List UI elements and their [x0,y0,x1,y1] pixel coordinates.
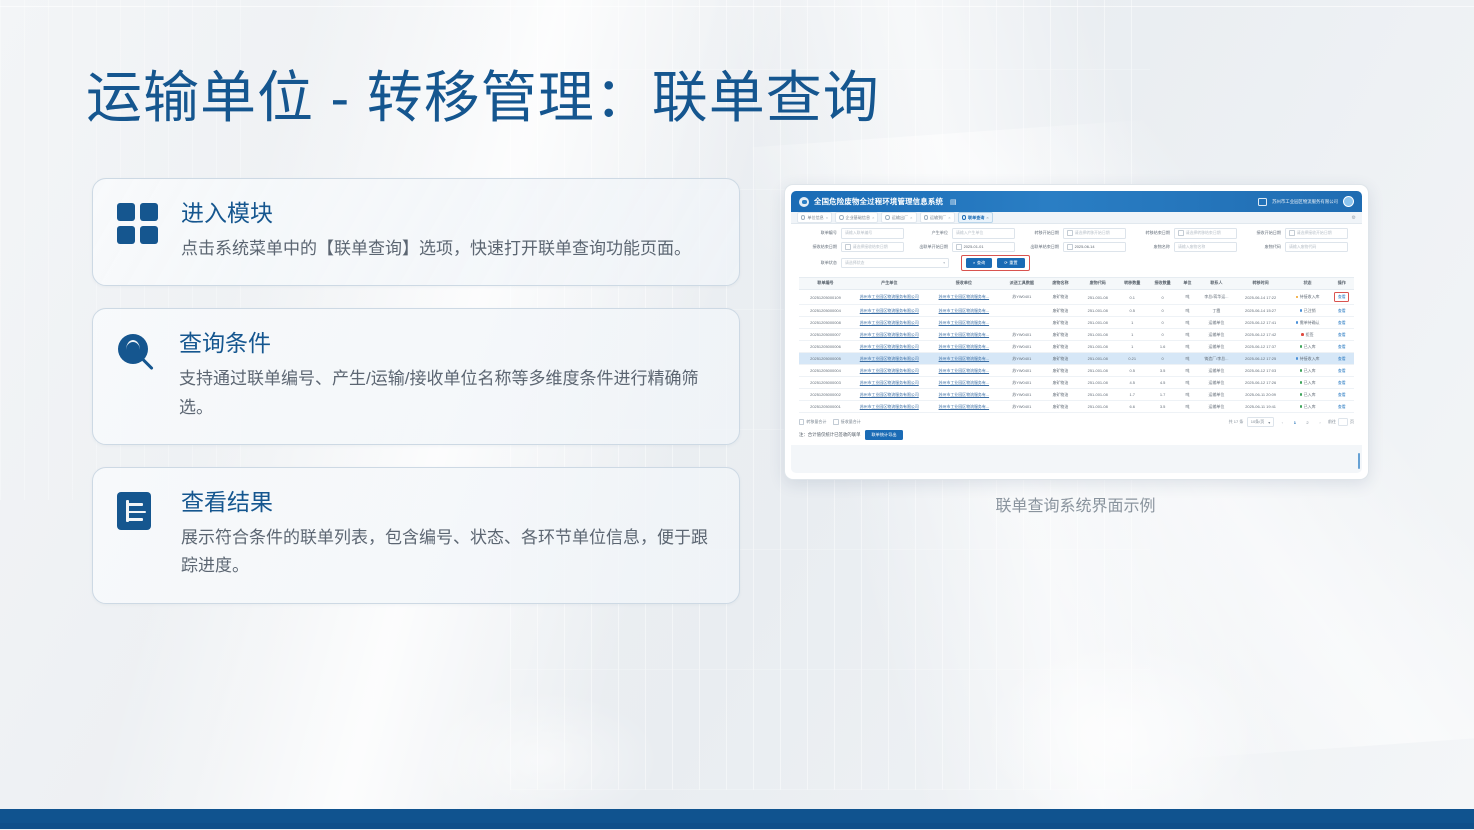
cell-transfer-qty: 6.6 [1117,401,1147,413]
page-2-button[interactable]: 2 [1303,419,1312,425]
cell-contact: 运输单位 [1197,389,1236,401]
cell-transfer-qty: 1 [1117,341,1147,353]
cell-contact: 李总/蒋华运... [1197,289,1236,304]
cell-transfer-time: 2025-06-12 17:41 [1236,317,1286,329]
cell-status: 已入库 [1285,365,1329,377]
cell-contact: 铸造厂/李总... [1197,353,1236,365]
results-table: 联单编号 产生单位 接收单位 派送工具数据 废物名称 废物代码 转移数量 接收数… [799,277,1354,413]
close-icon[interactable]: × [910,215,912,220]
cell-waste-name: 废矿物油 [1043,317,1079,329]
status-label: 待接收入库 [1300,294,1320,300]
cell-receive-qty: 1.6 [1147,341,1177,353]
status-dot-icon [1300,369,1303,372]
cell-status: 已入库 [1285,377,1329,389]
field-value: 2025-01-01 [964,244,984,249]
tab-enterprise-basic-info[interactable]: 企业基础信息 × [835,212,878,223]
field-producer-unit[interactable]: 产生单位 请输入产生单位 [910,228,1021,239]
table-row[interactable]: 20251205000002苏州市工业园区物流服务有限公司苏州市工业园区物流服务… [799,389,1354,401]
step-card-title: 进入模块 [181,199,717,228]
table-body: 20251205000109苏州市工业园区物流服务有限公司苏州市工业园区物流服务… [799,289,1354,412]
cell-waste-name: 废矿物油 [1043,401,1079,413]
cell-waste-code: 251-001-08 [1078,305,1117,317]
waste-name-input[interactable]: 请输入废物名称 [1174,242,1237,253]
receive-end-date-input[interactable]: 请选择接收结束日期 [841,242,904,253]
cell-transfer-time: 2025-06-14 17:22 [1236,289,1286,304]
cell-producer[interactable]: 苏州市工业园区物流服务有限公司 [852,329,927,341]
field-value: 请选择转移开始日期 [1075,230,1110,236]
cell-status: 已入库 [1285,401,1329,413]
scrollbar[interactable] [1358,453,1360,469]
status-dot-icon [1300,345,1303,348]
tab-transport-in[interactable]: 运输到厂 × [920,212,955,223]
prev-page-button[interactable]: ‹ [1278,419,1287,425]
cell-transfer-qty: 0.5 [1117,365,1147,377]
checkbox-receive-total[interactable]: 接收量合计 [833,419,860,425]
field-transfer-end-date[interactable]: 转移结束日期 请选择转移结束日期 [1132,228,1243,239]
field-value: 2025-06-14 [1075,244,1095,249]
search-form: 联单编号 请输入联单编号 产生单位 请输入产生单位 转移开始日期 请选择转移开始… [791,224,1362,277]
search-button[interactable]: ⌕ 查询 [966,258,992,268]
screenshot-frame: 全国危险废物全过程环境管理信息系统 ▤ 苏州市工业园区物流服务有限公司 单位信息… [784,184,1369,480]
cell-transfer-time: 2025-06-12 17:03 [1236,365,1286,377]
cell-receive-qty: 0 [1147,353,1177,365]
view-link[interactable]: 查看 [1338,380,1346,385]
cell-unit: 吨 [1178,377,1197,389]
total-count-label: 共 17 条 [1229,419,1244,425]
transfer-start-date-input[interactable]: 请选择转移开始日期 [1063,228,1126,239]
cell-waste-code: 251-001-08 [1078,329,1117,341]
field-label: 出联单结束日期 [1021,244,1063,250]
app-header: 全国危险废物全过程环境管理信息系统 ▤ 苏州市工业园区物流服务有限公司 [791,191,1362,212]
cell-transfer-qty: 0.5 [1117,305,1147,317]
field-label: 废物名称 [1132,244,1174,250]
footer-bar [0,809,1474,829]
checkbox-icon [799,419,804,424]
status-dot-icon [1296,321,1299,324]
checkbox-label: 转移量合计 [806,419,826,425]
cell-status: 已入库 [1285,341,1329,353]
next-page-button[interactable]: › [1315,419,1324,425]
dot-icon [801,215,805,219]
step-card-text: 支持通过联单编号、产生/运输/接收单位名称等多维度条件进行精确筛选。 [179,365,717,422]
table-row[interactable]: 20251205000005苏州市工业园区物流服务有限公司苏州市工业园区物流服务… [799,353,1354,365]
tab-label: 单位信息 [807,215,823,221]
cell-transfer-qty: 1.7 [1117,389,1147,401]
cell-status: 已入库 [1285,389,1329,401]
form-row-1: 联单编号 请输入联单编号 产生单位 请输入产生单位 转移开始日期 请选择转移开始… [799,228,1354,239]
cell-action[interactable]: 查看 [1330,377,1354,389]
table-header-row: 联单编号 产生单位 接收单位 派送工具数据 废物名称 废物代码 转移数量 接收数… [799,277,1354,289]
col-vehicle[interactable]: 派送工具数据 [1001,277,1042,289]
cell-action[interactable]: 查看 [1330,305,1354,317]
tab-manifest-query[interactable]: 联单查询 × [958,212,993,223]
cell-status: 待接收入库 [1285,353,1329,365]
status-label: 已注销 [1304,308,1316,314]
manifest-status-select[interactable]: 请选择状态 ▾ [841,258,949,269]
cell-action[interactable]: 查看 [1330,389,1354,401]
cell-manifest-no: 20251205000001 [799,401,852,413]
tab-label: 运输出厂 [892,215,908,221]
cell-waste-name: 废矿物油 [1043,289,1079,304]
step-card-enter-module[interactable]: 进入模块 点击系统菜单中的【联单查询】选项，快速打开联单查询功能页面。 [92,178,740,286]
cell-waste-name: 废矿物油 [1043,365,1079,377]
view-link[interactable]: 查看 [1338,356,1346,361]
cell-vehicle: 苏YW0401 [1001,401,1042,413]
checkbox-label: 接收量合计 [841,419,861,425]
cell-manifest-no: 20251205000004 [799,365,852,377]
cell-transfer-qty: 0.1 [1117,289,1147,304]
reset-button[interactable]: ⟳ 重置 [997,258,1024,268]
chevron-down-icon: ▾ [1268,420,1270,425]
background-top-rule [0,6,1474,7]
view-link[interactable]: 查看 [1338,308,1346,313]
field-label: 接收结束日期 [799,244,841,250]
table-note-row: 注：合计值仅统计已签收的联单 联单统计导出 [791,427,1362,445]
cell-waste-code: 251-001-08 [1078,401,1117,413]
app-title: 全国危险废物全过程环境管理信息系统 [814,196,943,207]
cell-transfer-time: 2025-06-11 19:41 [1236,401,1286,413]
col-receive-qty[interactable]: 接收数量 [1147,277,1177,289]
page-jump[interactable]: 前往 页 [1328,418,1354,426]
cell-transfer-time: 2025-06-12 17:42 [1236,329,1286,341]
step-card-body: 进入模块 点击系统菜单中的【联单查询】选项，快速打开联单查询功能页面。 [181,199,717,263]
cell-contact: 运输单位 [1197,341,1236,353]
message-icon[interactable] [1258,198,1267,206]
col-transfer-qty[interactable]: 转移数量 [1117,277,1147,289]
checkbox-icon [833,419,838,424]
cell-receive-qty: 4.5 [1147,377,1177,389]
cell-receiver[interactable]: 苏州市工业园区物流服务有... [927,305,1002,317]
cell-receiver[interactable]: 苏州市工业园区物流服务有... [927,341,1002,353]
cell-contact: 运输单位 [1197,317,1236,329]
cell-unit: 吨 [1178,317,1197,329]
cell-contact: 运输单位 [1197,377,1236,389]
cell-receive-qty: 0 [1147,329,1177,341]
field-label: 转移开始日期 [1021,230,1063,236]
receive-start-date-input[interactable]: 请选择接收开始日期 [1285,228,1348,239]
col-action[interactable]: 操作 [1330,277,1354,289]
col-status[interactable]: 状态 [1285,277,1329,289]
tab-label: 企业基础信息 [846,215,871,221]
table-row[interactable]: 20251205000001苏州市工业园区物流服务有限公司苏州市工业园区物流服务… [799,401,1354,413]
search-icon: ⌕ [973,260,975,265]
cell-receiver[interactable]: 苏州市工业园区物流服务有... [927,389,1002,401]
cell-manifest-no: 20251205000006 [799,341,852,353]
form-button-group: ⌕ 查询 ⟳ 重置 [961,255,1030,270]
status-dot-icon [1300,405,1303,408]
step-card-title: 查询条件 [179,329,717,358]
cell-action[interactable]: 查看 [1330,341,1354,353]
cell-receive-qty: 0 [1147,289,1177,304]
status-label: 已入库 [1304,344,1316,350]
table-row[interactable]: 20251205000004苏州市工业园区物流服务有限公司苏州市工业园区物流服务… [799,365,1354,377]
step-card-view-results[interactable]: 查看结果 展示符合条件的联单列表，包含编号、状态、各环节单位信息，便于跟踪进度。 [92,467,740,604]
tab-label: 联单查询 [968,215,984,221]
cell-producer[interactable]: 苏州市工业园区物流服务有限公司 [852,341,927,353]
close-icon[interactable]: × [826,215,828,220]
cell-transfer-qty: 1 [1117,317,1147,329]
close-icon[interactable]: × [872,215,874,220]
gear-icon[interactable]: ⚙ [1352,215,1356,221]
calendar-icon [956,244,962,250]
col-waste-name[interactable]: 废物名称 [1043,277,1079,289]
checkbox-transfer-total[interactable]: 转移量合计 [799,419,826,425]
manifest-no-input[interactable]: 请输入联单编号 [841,228,904,239]
col-manifest-no[interactable]: 联单编号 [799,277,852,289]
page-title: 运输单位 - 转移管理：联单查询 [86,64,880,131]
cell-receiver[interactable]: 苏州市工业园区物流服务有... [927,289,1002,304]
field-label: 接收开始日期 [1243,230,1285,236]
cell-waste-name: 废矿物油 [1043,377,1079,389]
list-icon [117,492,159,534]
waste-code-input[interactable]: 请输入废物代码 [1285,242,1348,253]
pagination: 共 17 条 10条/页 ▾ ‹ 1 2 › 前往 页 [1229,417,1354,427]
field-value: 请选择状态 [845,260,864,266]
field-manifest-status[interactable]: 联单状态 请选择状态 ▾ [799,258,955,269]
cell-transfer-time: 2025-06-14 15:27 [1236,305,1286,317]
view-link[interactable]: 查看 [1338,332,1346,337]
status-label: 待接收入库 [1300,356,1320,362]
view-link[interactable]: 查看 [1338,404,1346,409]
cell-unit: 吨 [1178,365,1197,377]
step-card-query-conditions[interactable]: 查询条件 支持通过联单编号、产生/运输/接收单位名称等多维度条件进行精确筛选。 [92,308,740,445]
cell-producer[interactable]: 苏州市工业园区物流服务有限公司 [852,377,927,389]
status-dot-icon [1300,381,1303,384]
cell-receiver[interactable]: 苏州市工业园区物流服务有... [927,317,1002,329]
jump-input[interactable] [1338,418,1348,426]
cell-vehicle [1001,317,1042,329]
step-card-list: 进入模块 点击系统菜单中的【联单查询】选项，快速打开联单查询功能页面。 查询条件… [92,178,740,626]
field-value: 请选择转移结束日期 [1186,230,1221,236]
field-label: 转移结束日期 [1132,230,1174,236]
cell-contact: 丁霞 [1197,305,1236,317]
cell-producer[interactable]: 苏州市工业园区物流服务有限公司 [852,365,927,377]
dot-icon [962,215,966,219]
field-manifest-no[interactable]: 联单编号 请输入联单编号 [799,228,910,239]
cell-vehicle: 苏YW0401 [1001,329,1042,341]
cell-receiver[interactable]: 苏州市工业园区物流服务有... [927,377,1002,389]
results-table-container: 联单编号 产生单位 接收单位 派送工具数据 废物名称 废物代码 转移数量 接收数… [791,277,1362,415]
cell-waste-code: 251-001-08 [1078,365,1117,377]
cell-transfer-time: 2025-06-12 17:26 [1236,377,1286,389]
avatar[interactable] [1343,196,1354,207]
field-receive-start-date[interactable]: 接收开始日期 请选择接收开始日期 [1243,228,1354,239]
table-row[interactable]: 20251205000109苏州市工业园区物流服务有限公司苏州市工业园区物流服务… [799,289,1354,304]
field-waste-code[interactable]: 废物代码 请输入废物代码 [1243,242,1354,253]
cell-producer[interactable]: 苏州市工业园区物流服务有限公司 [852,305,927,317]
issue-start-date-input[interactable]: 2025-01-01 [952,242,1015,253]
button-label: 重置 [1009,260,1017,266]
field-issue-end-date[interactable]: 出联单结束日期 2025-06-14 [1021,242,1132,253]
cell-manifest-no: 20251205000007 [799,329,852,341]
col-unit[interactable]: 单位 [1178,277,1197,289]
view-link[interactable]: 查看 [1334,292,1349,301]
status-dot-icon [1296,357,1299,360]
cell-transfer-qty: 1 [1117,329,1147,341]
step-card-body: 查看结果 展示符合条件的联单列表，包含编号、状态、各环节单位信息，便于跟踪进度。 [181,488,717,581]
field-issue-start-date[interactable]: 出联单开始日期 2025-01-01 [910,242,1021,253]
refresh-icon: ⟳ [1004,260,1007,265]
calendar-icon [1289,230,1295,236]
cell-receive-qty: 0 [1147,305,1177,317]
chevron-down-icon: ▾ [943,261,945,265]
issue-end-date-input[interactable]: 2025-06-14 [1063,242,1126,253]
form-row-3: 联单状态 请选择状态 ▾ ⌕ 查询 ⟳ 重置 [799,255,1354,270]
cell-contact: 运输单位 [1197,365,1236,377]
screenshot-caption: 联单查询系统界面示例 [784,492,1367,516]
cell-receive-qty: 0 [1147,317,1177,329]
dot-icon [839,215,843,219]
button-label: 查询 [977,260,985,266]
page-1-button[interactable]: 1 [1290,419,1299,425]
cell-waste-code: 251-001-08 [1078,317,1117,329]
page-size-select[interactable]: 10条/页 ▾ [1247,417,1275,427]
table-row[interactable]: 20251205000006苏州市工业园区物流服务有限公司苏州市工业园区物流服务… [799,341,1354,353]
menu-icon[interactable]: ▤ [950,198,957,206]
cell-transfer-time: 2025-06-12 17:25 [1236,353,1286,365]
tab-bar: 单位信息 × 企业基础信息 × 运输出厂 × 运输到厂 × 联单查询 × [791,212,1362,224]
col-producer[interactable]: 产生单位 [852,277,927,289]
cell-waste-name: 废矿物油 [1043,305,1079,317]
col-receiver[interactable]: 接收单位 [927,277,1002,289]
cell-status: 待接收入库 [1285,289,1329,304]
transfer-end-date-input[interactable]: 请选择转移结束日期 [1174,228,1237,239]
status-dot-icon [1300,393,1303,396]
close-icon[interactable]: × [986,215,988,220]
tab-transport-out[interactable]: 运输出厂 × [881,212,916,223]
cell-unit: 吨 [1178,305,1197,317]
cell-unit: 吨 [1178,353,1197,365]
table-row[interactable]: 20251205000004苏州市工业园区物流服务有限公司苏州市工业园区物流服务… [799,305,1354,317]
cell-receive-qty: 3.5 [1147,365,1177,377]
status-dot-icon [1301,333,1304,336]
cell-receiver[interactable]: 苏州市工业园区物流服务有... [927,329,1002,341]
table-note-text: 注：合计值仅统计已签收的联单 [799,432,860,438]
cell-producer[interactable]: 苏州市工业园区物流服务有限公司 [852,289,927,304]
cell-receiver[interactable]: 苏州市工业园区物流服务有... [927,365,1002,377]
cell-waste-name: 废矿物油 [1043,329,1079,341]
producer-unit-input[interactable]: 请输入产生单位 [952,228,1015,239]
screenshot-content: 全国危险废物全过程环境管理信息系统 ▤ 苏州市工业园区物流服务有限公司 单位信息… [791,191,1362,473]
dot-icon [924,215,928,219]
field-waste-name[interactable]: 废物名称 请输入废物名称 [1132,242,1243,253]
cell-status: 拒签 [1285,329,1329,341]
app-header-right: 苏州市工业园区物流服务有限公司 [1258,196,1354,207]
status-label: 拒签 [1306,332,1314,338]
current-user-label: 苏州市工业园区物流服务有限公司 [1272,199,1338,205]
cell-receiver[interactable]: 苏州市工业园区物流服务有... [927,401,1002,413]
field-transfer-start-date[interactable]: 转移开始日期 请选择转移开始日期 [1021,228,1132,239]
status-dot-icon [1300,309,1303,312]
cell-waste-code: 251-001-08 [1078,353,1117,365]
table-row[interactable]: 20251205000003苏州市工业园区物流服务有限公司苏州市工业园区物流服务… [799,377,1354,389]
cell-producer[interactable]: 苏州市工业园区物流服务有限公司 [852,317,927,329]
cell-contact: 运输单位 [1197,401,1236,413]
cell-vehicle: 苏YW0401 [1001,365,1042,377]
field-label: 废物代码 [1243,244,1285,250]
cell-vehicle: 苏YW0401 [1001,389,1042,401]
cell-receiver[interactable]: 苏州市工业园区物流服务有... [927,353,1002,365]
cell-vehicle [1001,305,1042,317]
jump-unit: 页 [1350,419,1354,425]
calendar-icon [1178,230,1184,236]
field-receive-end-date[interactable]: 接收结束日期 请选择接收结束日期 [799,242,910,253]
col-waste-code[interactable]: 废物代码 [1078,277,1117,289]
calendar-icon [1067,230,1073,236]
form-row-2: 接收结束日期 请选择接收结束日期 出联单开始日期 2025-01-01 出联单结… [799,242,1354,253]
background-glow-right [980,640,1260,830]
close-icon[interactable]: × [948,215,950,220]
cell-waste-code: 251-001-08 [1078,341,1117,353]
cell-vehicle: 苏YW0401 [1001,377,1042,389]
col-transfer-time[interactable]: 转移时间 [1236,277,1286,289]
status-label: 已入库 [1304,392,1316,398]
status-label: 需单待确认 [1300,320,1320,326]
field-value: 请选择接收结束日期 [853,244,888,250]
cell-unit: 吨 [1178,329,1197,341]
cell-waste-name: 废矿物油 [1043,389,1079,401]
view-link[interactable]: 查看 [1338,344,1346,349]
view-link[interactable]: 查看 [1338,320,1346,325]
cell-transfer-time: 2025-06-12 17:37 [1236,341,1286,353]
cell-unit: 吨 [1178,289,1197,304]
status-label: 已入库 [1304,368,1316,374]
cell-action[interactable]: 查看 [1330,317,1354,329]
cell-action[interactable]: 查看 [1330,401,1354,413]
col-contact[interactable]: 联系人 [1197,277,1236,289]
cell-transfer-qty: 0.21 [1117,353,1147,365]
app-logo-icon [799,197,809,207]
step-card-text: 点击系统菜单中的【联单查询】选项，快速打开联单查询功能页面。 [181,235,717,264]
cell-transfer-time: 2025-06-11 20:09 [1236,389,1286,401]
cell-manifest-no: 20251205000002 [799,389,852,401]
table-row[interactable]: 20251205000008苏州市工业园区物流服务有限公司苏州市工业园区物流服务… [799,317,1354,329]
cell-action[interactable]: 查看 [1330,365,1354,377]
view-link[interactable]: 查看 [1338,392,1346,397]
step-card-body: 查询条件 支持通过联单编号、产生/运输/接收单位名称等多维度条件进行精确筛选。 [179,329,717,422]
cell-manifest-no: 20251205000005 [799,353,852,365]
field-label: 联单状态 [799,260,841,266]
status-label: 已入库 [1304,404,1316,410]
field-label: 联单编号 [799,230,841,236]
cell-unit: 吨 [1178,401,1197,413]
cell-unit: 吨 [1178,389,1197,401]
export-statistics-button[interactable]: 联单统计导出 [865,430,902,440]
cell-action[interactable]: 查看 [1330,329,1354,341]
view-link[interactable]: 查看 [1338,368,1346,373]
cell-manifest-no: 20251205000109 [799,289,852,304]
cell-action[interactable]: 查看 [1330,353,1354,365]
cell-transfer-qty: 4.5 [1117,377,1147,389]
field-label: 产生单位 [910,230,952,236]
tab-unit-info[interactable]: 单位信息 × [797,212,832,223]
table-footer: 转移量合计 接收量合计 共 17 条 10条/页 ▾ ‹ 1 2 › 前往 [791,415,1362,427]
cell-producer[interactable]: 苏州市工业园区物流服务有限公司 [852,401,927,413]
cell-vehicle: 苏YW0401 [1001,341,1042,353]
cell-waste-name: 废矿物油 [1043,341,1079,353]
cell-receive-qty: 3.5 [1147,401,1177,413]
cell-vehicle: 苏YW0401 [1001,289,1042,304]
search-icon [117,333,157,373]
table-row[interactable]: 20251205000007苏州市工业园区物流服务有限公司苏州市工业园区物流服务… [799,329,1354,341]
cell-producer[interactable]: 苏州市工业园区物流服务有限公司 [852,389,927,401]
cell-status: 需单待确认 [1285,317,1329,329]
cell-action[interactable]: 查看 [1330,289,1354,304]
cell-producer[interactable]: 苏州市工业园区物流服务有限公司 [852,353,927,365]
cell-waste-code: 251-001-08 [1078,389,1117,401]
step-card-text: 展示符合条件的联单列表，包含编号、状态、各环节单位信息，便于跟踪进度。 [181,524,717,581]
step-card-title: 查看结果 [181,488,717,517]
